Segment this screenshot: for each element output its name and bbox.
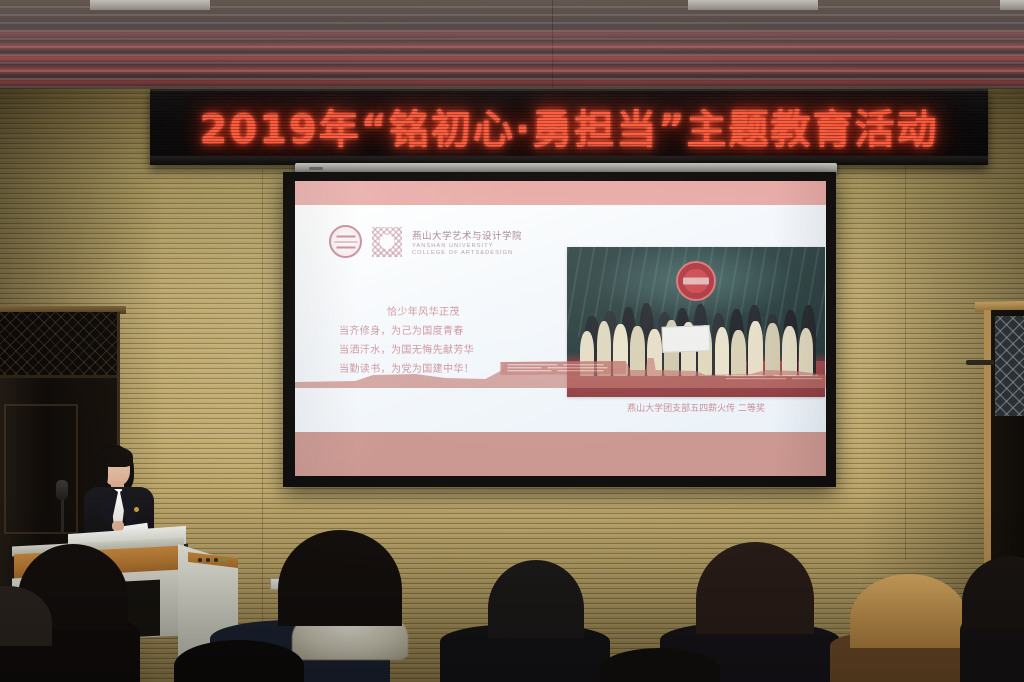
diamond-lattice-logo-icon <box>372 227 402 257</box>
led-banner-text: 2019年“铭初心·勇担当”主题教育活动 <box>150 97 988 155</box>
audience-head <box>600 648 720 682</box>
poem-line-2: 当齐修身，为己为国度青春 <box>339 322 554 341</box>
wall-seam <box>905 160 906 560</box>
college-logo: 燕山大学艺术与设计学院 YANSHAN UNIVERSITY COLLEGE O… <box>329 225 522 258</box>
audience-head <box>696 542 814 634</box>
audience-head <box>278 530 402 626</box>
logo-text-block: 燕山大学艺术与设计学院 YANSHAN UNIVERSITY COLLEGE O… <box>412 228 522 256</box>
ceiling-red-glow <box>0 0 1024 92</box>
slide-content-area: 燕山大学艺术与设计学院 YANSHAN UNIVERSITY COLLEGE O… <box>295 205 826 432</box>
presenter-badge-icon <box>134 507 139 512</box>
led-banner: 2019年“铭初心·勇担当”主题教育活动 <box>150 89 988 165</box>
auditorium-scene: 2019年“铭初心·勇担当”主题教育活动 燕山大学艺术与设计学院 YANSHAN… <box>0 0 1024 682</box>
logo-chinese-name: 燕山大学艺术与设计学院 <box>412 228 522 242</box>
projection-screen: 燕山大学艺术与设计学院 YANSHAN UNIVERSITY COLLEGE O… <box>283 172 836 487</box>
logo-english-university: YANSHAN UNIVERSITY <box>412 243 522 249</box>
slide-top-band <box>295 181 826 205</box>
slide-bottom-band <box>295 432 826 476</box>
left-door-panel <box>4 404 78 534</box>
right-door-handle-icon[interactable] <box>966 360 994 365</box>
presentation-slide: 燕山大学艺术与设计学院 YANSHAN UNIVERSITY COLLEGE O… <box>295 181 826 476</box>
left-door-lattice-transom <box>0 312 117 378</box>
photo-caption: 燕山大学团支部五四薪火传 二等奖 <box>567 401 825 414</box>
audience-head <box>962 556 1024 632</box>
audience <box>0 540 1024 682</box>
logo-english-college: COLLEGE OF ARTS&DESIGN <box>412 250 522 256</box>
audience-head-blonde <box>850 574 968 648</box>
audience-head <box>488 560 584 638</box>
campus-skyline-silhouette <box>295 348 826 388</box>
presenter-hair-side <box>96 455 108 489</box>
university-seal-icon <box>329 225 362 258</box>
microphone-icon <box>56 480 68 500</box>
right-door-lattice-glass <box>995 316 1024 416</box>
poem-line-1: 恰少年风华正茂 <box>339 303 554 322</box>
